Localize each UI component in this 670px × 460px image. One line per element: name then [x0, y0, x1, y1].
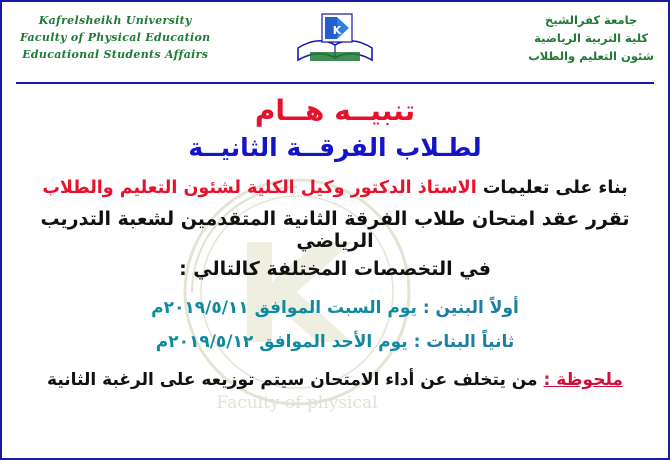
faculty-logo-icon: K	[292, 8, 378, 70]
body-paragraph-2: في التخصصات المختلفة كالتالي :	[2, 258, 668, 280]
header-english-line-3: Educational Students Affairs	[20, 46, 210, 63]
header-arabic-line-3: شئون التعليم والطلاب	[528, 48, 654, 66]
notice-title-secondary: لطـلاب الفرقــة الثانيــة	[2, 133, 668, 162]
intro-emphasis: الاستاذ الدكتور وكيل الكلية لشئون التعلي…	[42, 178, 476, 198]
intro-line: بناء على تعليمات الاستاذ الدكتور وكيل ال…	[2, 178, 668, 198]
notice-title-primary: تنبيــه هــام	[2, 94, 668, 127]
document-header: Kafrelsheikh University Faculty of Physi…	[2, 2, 668, 80]
header-arabic-line-2: كلية التربية الرياضية	[528, 30, 654, 48]
footer-note-text: من يتخلف عن أداء الامتحان سيتم توزيعه عل…	[47, 370, 538, 390]
header-english-line-1: Kafrelsheikh University	[20, 12, 210, 29]
header-divider	[16, 82, 654, 84]
schedule-label-boys: أولاً البنين :	[423, 298, 519, 318]
footer-note: ملحوظة : من يتخلف عن أداء الامتحان سيتم …	[2, 370, 668, 390]
footer-note-keyword: ملحوظة :	[544, 370, 623, 390]
schedule-row-boys: أولاً البنين : يوم السبت الموافق ٢٠١٩/٥/…	[2, 298, 668, 318]
svg-text:Faculty of physical: Faculty of physical	[216, 393, 377, 413]
intro-prefix: بناء على تعليمات	[483, 178, 628, 198]
notice-document: Faculty of physical Kafrelsheikh Univers…	[0, 0, 670, 460]
header-english-block: Kafrelsheikh University Faculty of Physi…	[20, 12, 210, 63]
schedule-value-boys: يوم السبت الموافق ٢٠١٩/٥/١١م	[151, 298, 417, 318]
svg-text:K: K	[333, 24, 342, 37]
schedule-row-girls: ثانياً البنات : يوم الأحد الموافق ٢٠١٩/٥…	[2, 332, 668, 352]
schedule-value-girls: يوم الأحد الموافق ٢٠١٩/٥/١٢م	[156, 332, 408, 352]
header-english-line-2: Faculty of Physical Education	[20, 29, 210, 46]
header-arabic-block: جامعة كفرالشيخ كلية التربية الرياضية شئو…	[528, 12, 654, 65]
header-arabic-line-1: جامعة كفرالشيخ	[528, 12, 654, 30]
body-paragraph-1: تقرر عقد امتحان طلاب الفرقة الثانية المت…	[2, 208, 668, 252]
schedule-label-girls: ثانياً البنات :	[414, 332, 515, 352]
